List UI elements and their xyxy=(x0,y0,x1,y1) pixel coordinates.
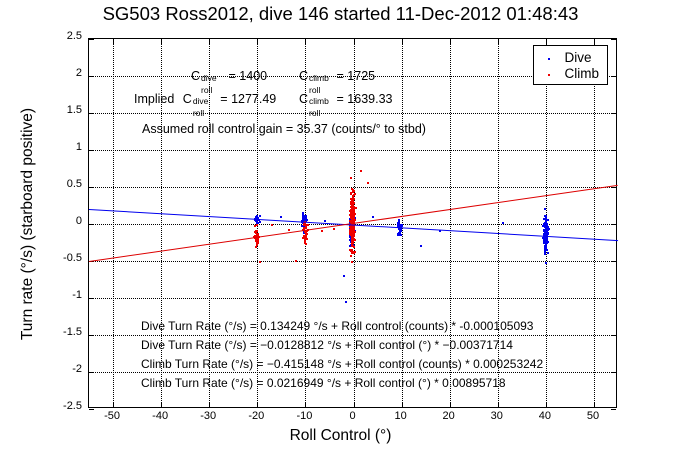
implied-c-dive-value: = 1277.49 xyxy=(220,92,276,106)
y-axis-tick-label: 0.5 xyxy=(38,178,82,190)
figure-canvas: SG503 Ross2012, dive 146 started 11-Dec-… xyxy=(0,0,681,454)
implied-c-climb-symbol: C xyxy=(299,92,308,106)
x-axis-tick-label: 10 xyxy=(378,410,424,422)
x-axis-tick-label: 0 xyxy=(330,410,376,422)
legend-label-dive: Dive xyxy=(560,50,591,65)
y-axis-title: Turn rate (°/s) (starboard positive) xyxy=(19,54,37,394)
y-axis-tick-label: 1.5 xyxy=(38,104,82,116)
x-axis-tick-label: -50 xyxy=(89,410,135,422)
equation-climb-degrees: Climb Turn Rate (°/s) = 0.0216949 °/s + … xyxy=(141,376,506,390)
y-axis-tick-label: -1 xyxy=(38,289,82,301)
y-axis-tick-label: -2 xyxy=(38,363,82,375)
implied-c-dive-superscript: dive xyxy=(193,96,209,106)
c-dive-value: = 1400 xyxy=(229,69,268,83)
roll-control-gain-annotation: Assumed roll control gain = 35.37 (count… xyxy=(142,122,426,136)
equation-climb-counts: Climb Turn Rate (°/s) = −0.415148 °/s + … xyxy=(141,357,543,371)
y-axis-tick-label: 0 xyxy=(38,215,82,227)
y-axis-tick-label: -1.5 xyxy=(38,326,82,338)
chart-title: SG503 Ross2012, dive 146 started 11-Dec-… xyxy=(0,3,681,25)
c-dive-symbol: C xyxy=(191,69,200,83)
implied-c-climb-subscript: roll xyxy=(309,108,320,118)
legend-entry-dive[interactable]: Dive xyxy=(538,49,599,65)
implied-prefix: Implied xyxy=(134,92,174,106)
c-climb-annotation: Cclimbroll = 1725 xyxy=(299,69,375,83)
x-axis-tick-label: 40 xyxy=(522,410,568,422)
legend-entry-climb[interactable]: Climb xyxy=(538,65,599,81)
c-climb-superscript: climb xyxy=(309,73,329,83)
x-axis-tick-label: -10 xyxy=(281,410,327,422)
legend-label-climb: Climb xyxy=(560,66,599,81)
x-axis-title: Roll Control (°) xyxy=(0,427,681,445)
implied-c-climb-superscript: climb xyxy=(309,96,329,106)
c-climb-symbol: C xyxy=(299,69,308,83)
y-axis-tick-label: -0.5 xyxy=(38,252,82,264)
implied-c-dive-symbol: C xyxy=(183,92,192,106)
y-axis-tick-label: 1 xyxy=(38,141,82,153)
x-axis-tick-label: -40 xyxy=(137,410,183,422)
equation-dive-degrees: Dive Turn Rate (°/s) = −0.0128812 °/s + … xyxy=(141,338,513,352)
implied-c-dive-subscript: roll xyxy=(193,108,204,118)
c-dive-annotation: Cdiveroll = 1400 xyxy=(191,69,267,83)
implied-c-climb-annotation: Cclimbroll = 1639.33 xyxy=(299,92,392,106)
legend-marker-climb-icon xyxy=(538,69,560,78)
c-dive-superscript: dive xyxy=(201,73,217,83)
annotation-layer: Cdiveroll = 1400 Cclimbroll = 1725 Impli… xyxy=(89,39,616,407)
c-climb-value: = 1725 xyxy=(337,69,376,83)
y-axis-tick-label: -2.5 xyxy=(38,400,82,412)
plot-area: Cdiveroll = 1400 Cclimbroll = 1725 Impli… xyxy=(88,38,617,408)
legend-marker-dive-icon xyxy=(538,53,560,62)
x-axis-tick-label: -30 xyxy=(185,410,231,422)
y-axis-tick-label: 2 xyxy=(38,67,82,79)
x-axis-tick-label: 50 xyxy=(570,410,616,422)
legend: Dive Climb xyxy=(533,45,608,85)
x-axis-tick-label: 30 xyxy=(474,410,520,422)
implied-c-climb-value: = 1639.33 xyxy=(337,92,393,106)
implied-c-dive-annotation: Implied Cdiveroll = 1277.49 xyxy=(134,92,276,106)
x-axis-tick-label: -20 xyxy=(233,410,279,422)
equation-dive-counts: Dive Turn Rate (°/s) = 0.134249 °/s + Ro… xyxy=(141,319,533,333)
y-axis-tick-label: 2.5 xyxy=(38,30,82,42)
x-axis-tick-label: 20 xyxy=(426,410,472,422)
